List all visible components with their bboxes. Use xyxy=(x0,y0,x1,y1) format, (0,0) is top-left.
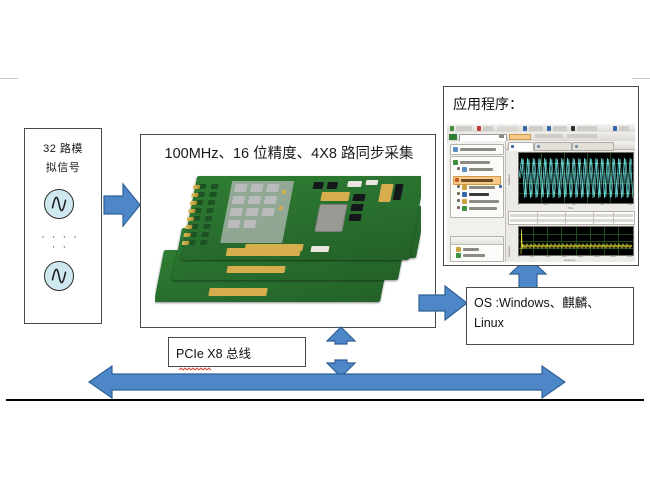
combo-caret-icon[interactable] xyxy=(499,135,504,138)
analog-signal-label: 32 路模 拟信号 xyxy=(28,140,98,178)
analog-signal-label-line1: 32 路模 xyxy=(28,140,98,159)
os-label-line1: OS :Windows、麒麟、 xyxy=(474,293,630,313)
table-row xyxy=(510,219,633,222)
app-content: Amplitude 02m4m6m8m Time xyxy=(506,141,635,262)
toolbar-label xyxy=(497,126,519,131)
device-icon xyxy=(462,167,467,172)
os-label-line2: Linux xyxy=(474,313,630,333)
slide-rule-left xyxy=(0,78,18,79)
toolbar-icon-green xyxy=(450,126,454,131)
arrow-signal-to-board xyxy=(103,182,141,228)
os-label: OS :Windows、麒麟、 Linux xyxy=(474,293,630,333)
spectrum-xlabel: Frequency xyxy=(564,259,575,262)
tab-data-view[interactable] xyxy=(508,142,534,151)
sidebar-search-text xyxy=(460,148,496,151)
sidebar-search-panel[interactable] xyxy=(450,144,504,155)
tree-item[interactable] xyxy=(457,206,501,211)
toolbar-icon-help xyxy=(613,126,617,131)
tree-item[interactable] xyxy=(457,185,501,190)
toolbar-icon-blue xyxy=(523,126,527,131)
tab-recording[interactable] xyxy=(534,142,572,151)
waveform-xlabel: Time xyxy=(568,207,573,210)
tree-item[interactable] xyxy=(453,160,499,165)
waveform-ylabel: Amplitude xyxy=(508,174,511,185)
toolbar-label xyxy=(619,126,629,131)
tree-item-label xyxy=(469,168,493,171)
expander-icon[interactable] xyxy=(457,199,460,202)
arrow-system-bus xyxy=(88,364,566,400)
tree-item[interactable] xyxy=(457,167,499,172)
bottom-divider-line xyxy=(6,399,644,401)
tab-icon xyxy=(511,145,514,148)
measurement-table[interactable] xyxy=(508,211,635,225)
item-icon xyxy=(462,206,467,211)
ribbon-item[interactable] xyxy=(535,134,563,138)
device-icon xyxy=(449,134,457,140)
sine-wave-icon xyxy=(44,189,74,219)
ribbon-tab-active[interactable] xyxy=(509,134,531,140)
list-item-label xyxy=(463,248,479,251)
tab-icon xyxy=(575,145,578,148)
toolbar-label xyxy=(456,126,472,131)
application-title: 应用程序： xyxy=(453,94,523,114)
waveform-xticks: 02m4m6m8m xyxy=(518,203,632,206)
expander-icon[interactable] xyxy=(457,192,460,195)
tree-item-label xyxy=(469,193,489,196)
spectrum-trace xyxy=(519,227,633,255)
power-icon xyxy=(455,178,459,182)
list-item[interactable] xyxy=(456,253,496,258)
file-icon xyxy=(456,253,461,258)
item-icon xyxy=(462,199,467,204)
file-icon xyxy=(456,247,461,252)
spellcheck-squiggle-icon xyxy=(179,358,212,362)
tree-item[interactable] xyxy=(457,192,501,197)
tree-item-label xyxy=(469,207,497,210)
item-icon xyxy=(462,192,467,197)
waveform-trace xyxy=(519,153,633,203)
slide-canvas: 32 路模 拟信号 · · · · · · 100MHz、16 位精度、4X8 … xyxy=(0,0,650,478)
toolbar-icon-dark xyxy=(571,126,575,131)
waveform-plot xyxy=(518,152,634,204)
toolbar-icon-red xyxy=(477,126,481,131)
app-tabstrip xyxy=(506,141,635,150)
sidebar-bottom-panel[interactable] xyxy=(450,236,504,262)
spectrum-xticks: 0500100015002000250030003500 xyxy=(518,255,632,258)
tab-icon xyxy=(537,145,540,148)
sidebar-tree-panel[interactable] xyxy=(450,156,504,218)
tree-item[interactable] xyxy=(457,199,501,204)
slide-rule-right xyxy=(632,78,650,79)
status-dot-icon xyxy=(499,185,502,188)
ellipsis-label: · · · · · · xyxy=(38,232,82,252)
sidebar-bottom-header xyxy=(451,237,503,245)
expander-icon[interactable] xyxy=(457,167,460,170)
tab-project[interactable] xyxy=(572,142,614,151)
pcie-board-stack-photo xyxy=(155,172,421,320)
tree-item-selected-label xyxy=(461,179,493,182)
sine-wave-icon xyxy=(44,261,74,291)
toolbar-label xyxy=(577,126,597,131)
expander-icon[interactable] xyxy=(457,206,460,209)
toolbar-label xyxy=(553,126,567,131)
toolbar-label xyxy=(529,126,543,131)
list-item-label xyxy=(463,254,485,257)
toolbar-label xyxy=(483,126,493,131)
expander-icon[interactable] xyxy=(457,185,460,188)
item-icon xyxy=(462,185,467,190)
table-row xyxy=(510,214,633,217)
daq-software-window: Amplitude 02m4m6m8m Time xyxy=(447,124,635,262)
list-item[interactable] xyxy=(456,247,496,252)
analog-signal-label-line2: 拟信号 xyxy=(28,159,98,178)
tree-item-label xyxy=(469,200,499,203)
toolbar-icon-blue2 xyxy=(547,126,551,131)
spectrum-ylabel: Magnitude xyxy=(508,246,511,257)
search-icon xyxy=(453,147,458,152)
spectrum-plot xyxy=(518,226,634,256)
arrow-board-to-os xyxy=(418,284,468,322)
tree-item-label xyxy=(460,161,490,164)
app-sidebar xyxy=(447,141,506,262)
acquisition-board-title: 100MHz、16 位精度、4X8 路同步采集 xyxy=(150,142,428,163)
tree-item-label xyxy=(469,186,495,189)
tree-item-selected[interactable] xyxy=(453,176,501,185)
folder-icon xyxy=(453,160,458,165)
ribbon-item[interactable] xyxy=(567,134,597,138)
